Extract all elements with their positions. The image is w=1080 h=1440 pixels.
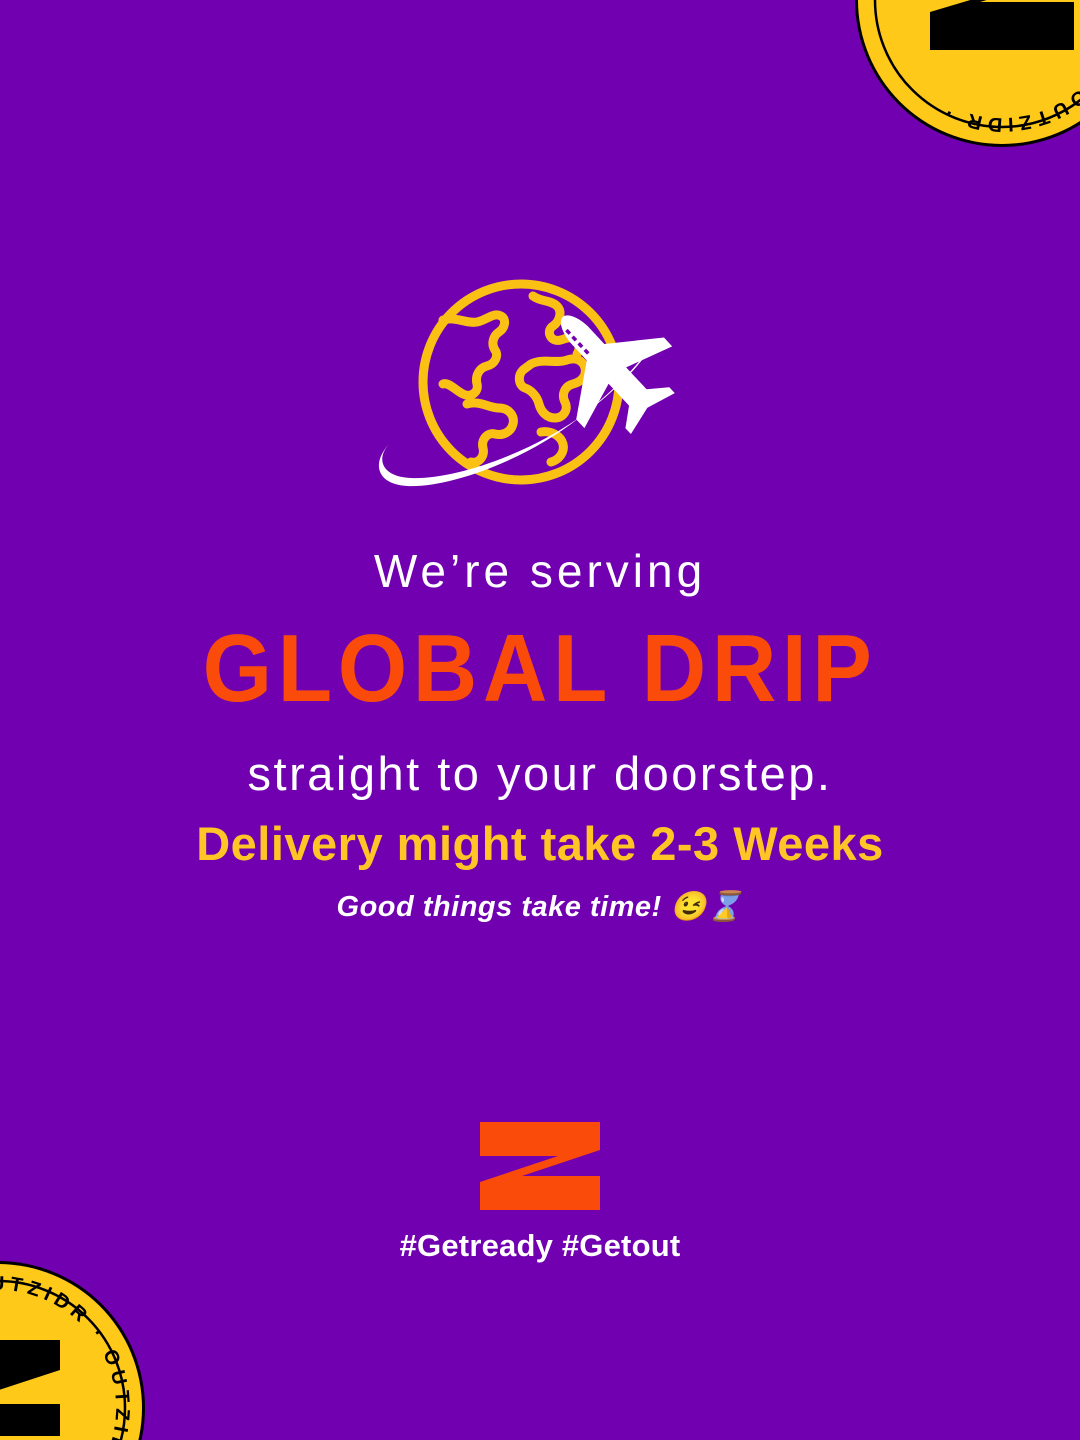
delivery-subnote-text: Good things take time! 😉⌛ bbox=[0, 893, 1080, 922]
globe-with-airplane-icon bbox=[355, 272, 705, 512]
promo-poster: OUTZIDR · OUTZIDR · OUTZIDR · OUTZIDR · … bbox=[0, 0, 1080, 1440]
outzidr-badge-top-right: OUTZIDR · OUTZIDR · OUTZIDR · OUTZIDR · bbox=[852, 0, 1080, 150]
eyebrow-text: We’re serving bbox=[0, 548, 1080, 594]
delivery-notice-text: Delivery might take 2-3 Weeks bbox=[0, 820, 1080, 867]
headline-block: We’re serving GLOBAL DRIP straight to yo… bbox=[0, 548, 1080, 797]
hashtag-line: #Getready #Getout bbox=[0, 1230, 1080, 1261]
brand-z-logo-icon bbox=[478, 1120, 602, 1212]
footer-block: #Getready #Getout bbox=[0, 1120, 1080, 1261]
delivery-block: Delivery might take 2-3 Weeks Good thing… bbox=[0, 820, 1080, 922]
badge-z-mark bbox=[930, 0, 1074, 50]
subheadline-text: straight to your doorstep. bbox=[0, 750, 1080, 797]
outzidr-badge-bottom-left: OUTZIDR OUTZIDR · OUTZIDR · OUTZIDR · OU… bbox=[0, 1258, 148, 1440]
display-headline: GLOBAL DRIP bbox=[38, 621, 1042, 717]
